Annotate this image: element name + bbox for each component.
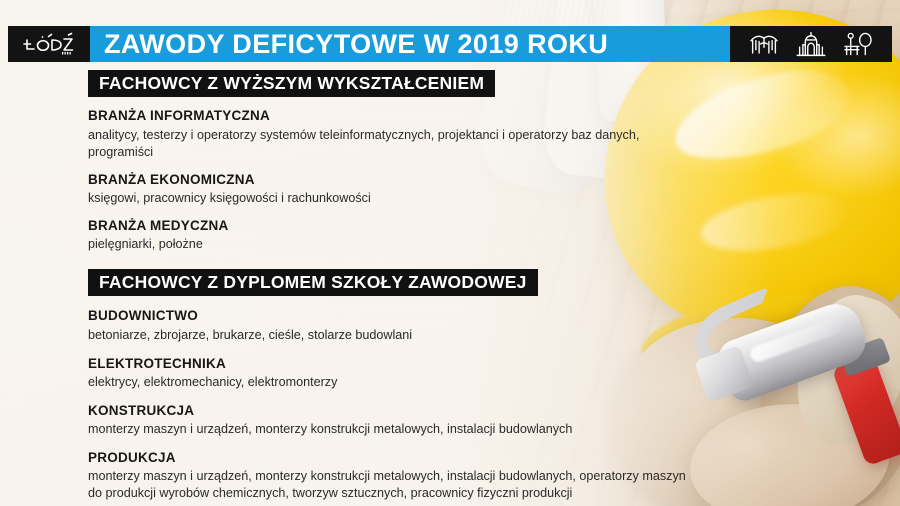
lodz-city-logo-icon [21, 32, 77, 56]
group-title: BRANŻA MEDYCZNA [88, 218, 708, 234]
group-title: BRANŻA INFORMATYCZNA [88, 108, 708, 124]
group-title: PRODUKCJA [88, 450, 708, 466]
section-vocational-diploma: FACHOWCY Z DYPLOMEM SZKOŁY ZAWODOWEJ BUD… [88, 253, 708, 506]
park-bench-tree-icon [841, 31, 875, 57]
group-construction: BUDOWNICTWO betoniarze, zbrojarze, bruka… [88, 308, 708, 343]
section-higher-education: FACHOWCY Z WYŻSZYM WYKSZTAŁCENIEM BRANŻA… [88, 70, 708, 253]
group-desc: pielęgniarki, położne [88, 236, 688, 253]
infographic-canvas: ZAWODY DEFICYTOWE W 2019 ROKU [0, 0, 900, 506]
group-desc: betoniarze, zbrojarze, brukarze, cieśle,… [88, 327, 688, 344]
group-medical: BRANŻA MEDYCZNA pielęgniarki, położne [88, 218, 708, 253]
city-icon-bar [730, 26, 892, 62]
section-banner-vocational: FACHOWCY Z DYPLOMEM SZKOŁY ZAWODOWEJ [88, 269, 538, 296]
group-production: PRODUKCJA monterzy maszyn i urządzeń, mo… [88, 450, 708, 502]
page-title: ZAWODY DEFICYTOWE W 2019 ROKU [104, 31, 608, 58]
group-desc: monterzy maszyn i urządzeń, monterzy kon… [88, 468, 688, 502]
palace-gate-icon [794, 31, 828, 57]
title-bar: ZAWODY DEFICYTOWE W 2019 ROKU [90, 26, 730, 62]
group-structures: KONSTRUKCJA monterzy maszyn i urządzeń, … [88, 403, 708, 438]
group-electrotechnics: ELEKTROTECHNIKA elektrycy, elektromechan… [88, 356, 708, 391]
group-it: BRANŻA INFORMATYCZNA analitycy, testerzy… [88, 108, 708, 160]
group-desc: monterzy maszyn i urządzeń, monterzy kon… [88, 421, 688, 438]
group-desc: księgowi, pracownicy księgowości i rachu… [88, 190, 688, 207]
fountain-icon [747, 31, 781, 57]
content-column: FACHOWCY Z WYŻSZYM WYKSZTAŁCENIEM BRANŻA… [88, 70, 708, 506]
lodz-logo-block [8, 26, 90, 62]
group-desc: analitycy, testerzy i operatorzy systemó… [88, 127, 688, 161]
section-banner-higher-education: FACHOWCY Z WYŻSZYM WYKSZTAŁCENIEM [88, 70, 495, 97]
group-desc: elektrycy, elektromechanicy, elektromont… [88, 374, 688, 391]
group-economics: BRANŻA EKONOMICZNA księgowi, pracownicy … [88, 172, 708, 207]
group-title: KONSTRUKCJA [88, 403, 708, 419]
group-title: BRANŻA EKONOMICZNA [88, 172, 708, 188]
group-title: ELEKTROTECHNIKA [88, 356, 708, 372]
header: ZAWODY DEFICYTOWE W 2019 ROKU [8, 26, 892, 62]
group-title: BUDOWNICTWO [88, 308, 708, 324]
